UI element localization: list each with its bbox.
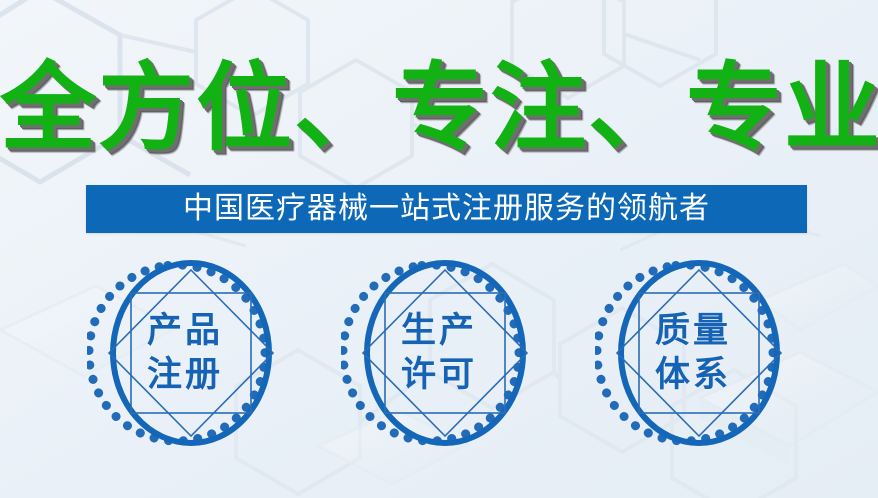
subtitle-text: 中国医疗器械一站式注册服务的领航者 bbox=[183, 192, 710, 226]
badge-label-line1: 生产 bbox=[401, 309, 477, 353]
badge-label-line2: 注册 bbox=[147, 353, 223, 397]
badge-group: 产品 注册 生产 许可 bbox=[0, 248, 878, 460]
subtitle-bar: 中国医疗器械一站式注册服务的领航者 bbox=[86, 185, 807, 233]
badge-label: 质量 体系 bbox=[595, 248, 791, 458]
badge-quality-system[interactable]: 质量 体系 bbox=[595, 248, 791, 458]
badge-production-license[interactable]: 生产 许可 bbox=[341, 248, 537, 458]
badge-label-line1: 产品 bbox=[147, 309, 223, 353]
badge-product-registration[interactable]: 产品 注册 bbox=[87, 248, 283, 458]
badge-label: 产品 注册 bbox=[87, 248, 283, 458]
promo-banner: 全方位、专注、专业 中国医疗器械一站式注册服务的领航者 产品 bbox=[0, 0, 878, 498]
badge-label-line1: 质量 bbox=[655, 309, 731, 353]
badge-label-line2: 体系 bbox=[655, 353, 731, 397]
badge-label: 生产 许可 bbox=[341, 248, 537, 458]
page-title: 全方位、专注、专业 bbox=[0, 52, 878, 164]
badge-label-line2: 许可 bbox=[401, 353, 477, 397]
